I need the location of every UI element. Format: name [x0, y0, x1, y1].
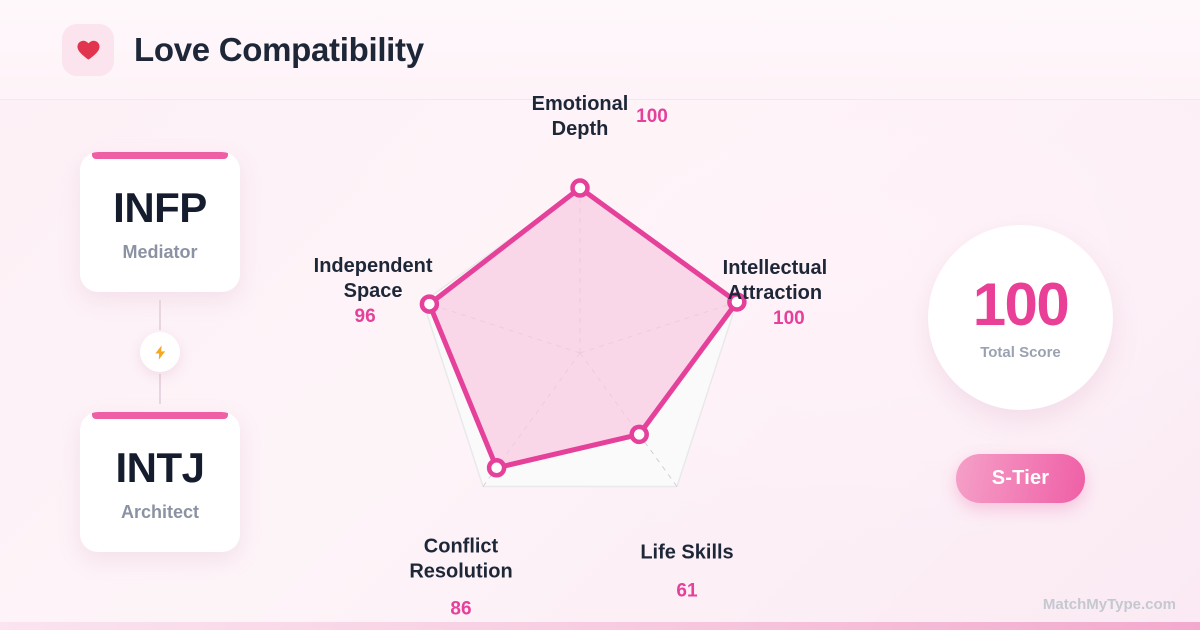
page-title: Love Compatibility [134, 31, 424, 69]
card-accent-bar [92, 152, 228, 159]
tier-badge: S-Tier [956, 454, 1086, 503]
mbti-code-second: INTJ [115, 447, 204, 489]
mbti-name-first: Mediator [122, 242, 197, 263]
radar-data-point[interactable] [573, 181, 588, 196]
mbti-card-second[interactable]: INTJ Architect [80, 412, 240, 552]
compatibility-radar-chart: EmotionalDepth100IntellectualAttraction1… [280, 110, 890, 590]
mbti-name-second: Architect [121, 502, 199, 523]
total-score-value: 100 [973, 275, 1069, 335]
radar-axis-label: Life Skills [640, 542, 733, 564]
radar-axis-label: ConflictResolution [409, 536, 512, 583]
lightning-bolt-icon [140, 332, 180, 372]
radar-value-label: 61 [676, 581, 698, 602]
connector-line-bottom [159, 374, 161, 404]
radar-svg: EmotionalDepth100IntellectualAttraction1… [280, 110, 890, 590]
radar-value-label: 100 [773, 308, 805, 329]
pair-connector [80, 292, 240, 412]
bottom-accent-bar [0, 622, 1200, 630]
mbti-pair-panel: INFP Mediator INTJ Architect [80, 152, 240, 552]
radar-value-label: 100 [636, 106, 668, 127]
radar-value-label: 86 [450, 599, 471, 620]
total-score-label: Total Score [980, 344, 1061, 361]
mbti-code-first: INFP [113, 187, 207, 229]
radar-axis-label: EmotionalDepth [532, 93, 629, 140]
radar-axis-label: IndependentSpace [314, 255, 433, 302]
mbti-card-first[interactable]: INFP Mediator [80, 152, 240, 292]
heart-icon [62, 24, 114, 76]
radar-data-point[interactable] [422, 297, 437, 312]
radar-axis-label: IntellectualAttraction [723, 257, 827, 304]
score-panel: 100 Total Score S-Tier [918, 225, 1123, 503]
card-accent-bar [92, 412, 228, 419]
site-watermark: MatchMyType.com [1043, 596, 1176, 613]
radar-data-point[interactable] [489, 460, 504, 475]
total-score-circle: 100 Total Score [928, 225, 1113, 410]
radar-data-point[interactable] [632, 427, 647, 442]
radar-value-label: 96 [355, 306, 376, 327]
page-header: Love Compatibility [0, 0, 1200, 100]
connector-line-top [159, 300, 161, 330]
page-root: Love Compatibility INFP Mediator INTJ Ar… [0, 0, 1200, 630]
